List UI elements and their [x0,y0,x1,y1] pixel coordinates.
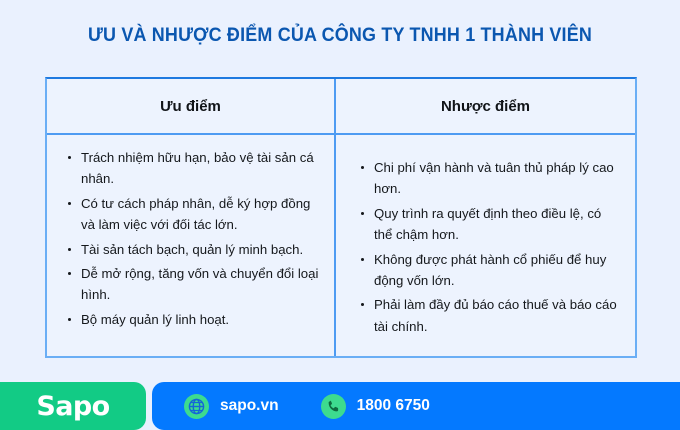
footer-bar: Sapo sapo.vn 1800 6750 [0,382,680,430]
list-item: Dễ mở rộng, tăng vốn và chuyển đổi loại … [61,263,320,306]
comparison-table: Ưu điểm Nhược điểm Trách nhiệm hữu hạn, … [45,77,637,358]
list-item: Tài sản tách bạch, quản lý minh bạch. [61,239,320,260]
list-item: Quy trình ra quyết định theo điều lệ, có… [354,203,621,246]
list-item: Phải làm đầy đủ báo cáo thuế và báo cáo … [354,294,621,337]
table-body-row: Trách nhiệm hữu hạn, bảo vệ tài sản cá n… [47,135,635,356]
website-label: sapo.vn [220,397,279,415]
phone-label: 1800 6750 [357,397,430,415]
advantages-cell: Trách nhiệm hữu hạn, bảo vệ tài sản cá n… [47,135,336,356]
page-title: ƯU VÀ NHƯỢC ĐIỂM CỦA CÔNG TY TNHH 1 THÀN… [27,24,653,47]
list-item: Trách nhiệm hữu hạn, bảo vệ tài sản cá n… [61,147,320,190]
disadvantages-list: Chi phí vận hành và tuân thủ pháp lý cao… [354,157,621,337]
table-header-row: Ưu điểm Nhược điểm [47,79,635,135]
advantages-list: Trách nhiệm hữu hạn, bảo vệ tài sản cá n… [61,147,320,330]
table-header-advantages: Ưu điểm [47,79,336,133]
website-contact[interactable]: sapo.vn [184,394,279,419]
phone-contact[interactable]: 1800 6750 [321,394,430,419]
list-item: Không được phát hành cổ phiếu để huy độn… [354,249,621,292]
list-item: Bộ máy quản lý linh hoạt. [61,309,320,330]
sapo-logo-block: Sapo [0,382,146,430]
list-item: Có tư cách pháp nhân, dễ ký hợp đồng và … [61,193,320,236]
footer-contact-block: sapo.vn 1800 6750 [152,382,680,430]
sapo-wordmark: Sapo [36,391,109,422]
disadvantages-cell: Chi phí vận hành và tuân thủ pháp lý cao… [336,135,635,356]
list-item: Chi phí vận hành và tuân thủ pháp lý cao… [354,157,621,200]
table-header-disadvantages: Nhược điểm [336,79,635,133]
globe-icon [184,394,209,419]
phone-icon [321,394,346,419]
